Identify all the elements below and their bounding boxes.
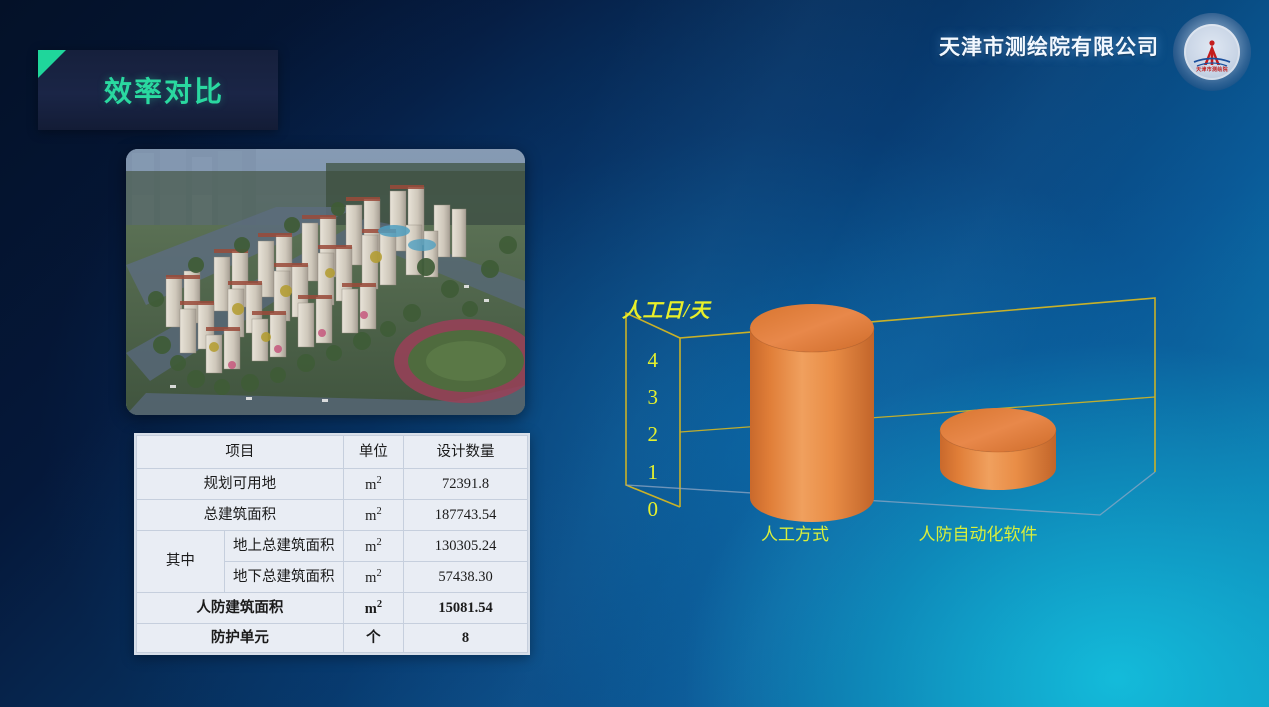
chart-category-label-1: 人工方式: [705, 520, 885, 545]
col-header-qty: 设计数量: [404, 436, 528, 469]
y-tick-4: 4: [628, 348, 658, 373]
chart-y-axis-title: 人工日/天: [622, 294, 710, 323]
table-header-row: 项目 单位 设计数量: [137, 436, 528, 469]
company-name: 天津市测绘院有限公司: [939, 31, 1159, 61]
efficiency-comparison-chart: 人工日/天 4 3 2 1 0: [610, 280, 1170, 550]
row-item-label: 人防建筑面积: [137, 592, 344, 623]
row-qty: 57438.30: [404, 561, 528, 592]
specification-table: 项目 单位 设计数量 规划可用地 m2 72391.8 总建筑面积 m2 187…: [134, 433, 530, 655]
row-unit: m2: [343, 592, 403, 623]
project-photo: [126, 149, 525, 415]
table-row: 总建筑面积 m2 187743.54: [137, 500, 528, 531]
logo-caption: 天津市测绘院: [1184, 66, 1240, 73]
table-row: 防护单元 个 8: [137, 623, 528, 652]
company-logo: 天津市测绘院: [1173, 13, 1251, 91]
row-unit: m2: [343, 500, 403, 531]
table-row: 其中 地上总建筑面积 m2 130305.24: [137, 531, 528, 562]
row-sub-label: 地下总建筑面积: [224, 561, 343, 592]
row-sub-label: 地上总建筑面积: [224, 531, 343, 562]
row-group-label: 其中: [137, 531, 225, 593]
row-item-label: 规划可用地: [137, 469, 344, 500]
row-unit: 个: [343, 623, 403, 652]
page-title: 效率对比: [104, 70, 224, 110]
row-unit: m2: [343, 469, 403, 500]
section-title-box: 效率对比: [38, 50, 278, 130]
y-tick-0: 0: [628, 497, 658, 522]
table-row: 人防建筑面积 m2 15081.54: [137, 592, 528, 623]
logo-ring: 天津市测绘院: [1184, 24, 1240, 80]
row-item-label: 防护单元: [137, 623, 344, 652]
chart-category-label-2: 人防自动化软件: [868, 520, 1088, 545]
chart-floor: [626, 472, 1155, 515]
row-item-label: 总建筑面积: [137, 500, 344, 531]
row-qty: 130305.24: [404, 531, 528, 562]
col-header-unit: 单位: [343, 436, 403, 469]
row-unit: m2: [343, 561, 403, 592]
row-qty: 8: [404, 623, 528, 652]
y-tick-3: 3: [628, 385, 658, 410]
row-unit: m2: [343, 531, 403, 562]
row-qty: 15081.54: [404, 592, 528, 623]
col-header-item: 项目: [137, 436, 344, 469]
table-row: 规划可用地 m2 72391.8: [137, 469, 528, 500]
row-qty: 72391.8: [404, 469, 528, 500]
slide-canvas: 天津市测绘院有限公司 天津市测绘院 效率对比: [0, 0, 1269, 707]
row-qty: 187743.54: [404, 500, 528, 531]
corner-triangle-icon: [38, 50, 66, 78]
aerial-rendering-illustration: [126, 149, 525, 415]
y-tick-1: 1: [628, 460, 658, 485]
chart-cylinder-bar-2: [940, 408, 1056, 490]
chart-cylinder-bar-1: [750, 304, 874, 522]
y-tick-2: 2: [628, 422, 658, 447]
